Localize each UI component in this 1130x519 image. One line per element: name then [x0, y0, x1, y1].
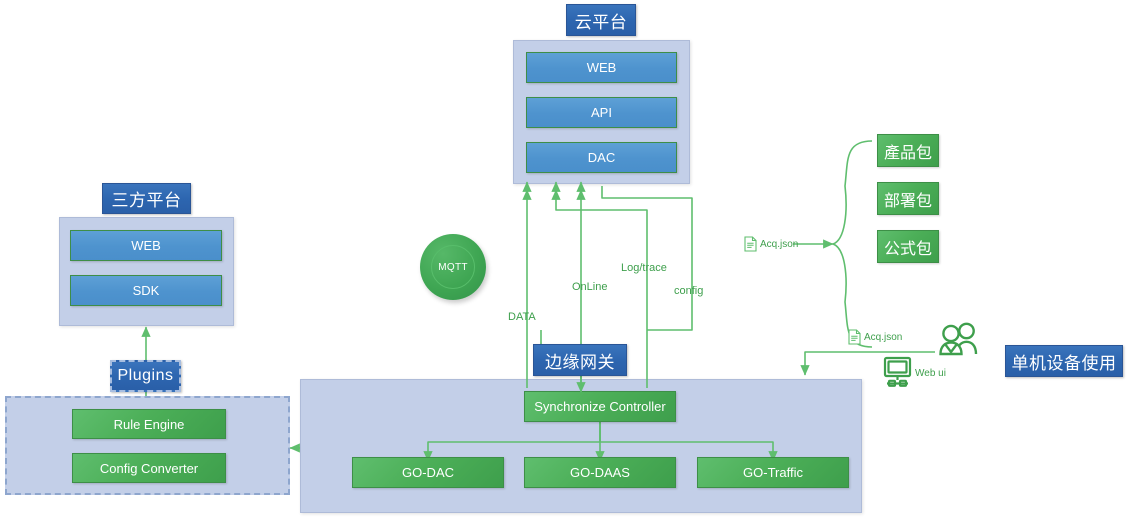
- rule-engine-label: Rule Engine: [114, 417, 185, 432]
- wire-ctrl-to-godac: [428, 422, 600, 461]
- packages-brace: [833, 141, 872, 347]
- config-converter-box[interactable]: Config Converter: [72, 453, 226, 483]
- plugins-badge[interactable]: Plugins: [110, 360, 181, 392]
- go-traffic-box[interactable]: GO-Traffic: [697, 457, 849, 488]
- cloud-web-label: WEB: [587, 60, 617, 75]
- plugins-badge-label: Plugins: [118, 367, 174, 385]
- diagram-canvas: 云平台 WEB API DAC 三方平台 WEB SDK Plugins Rul…: [0, 0, 1130, 519]
- go-dac-label: GO-DAC: [402, 465, 454, 480]
- mqtt-inner-ring: MQTT: [431, 245, 475, 289]
- document-icon: [848, 329, 861, 345]
- third-party-web-box[interactable]: WEB: [70, 230, 222, 261]
- config-converter-label: Config Converter: [100, 461, 198, 476]
- cloud-dac-box[interactable]: DAC: [526, 142, 677, 173]
- wire-ctrl-to-gotraffic: [600, 422, 773, 461]
- web-ui-label: Web ui: [915, 368, 946, 379]
- third-party-sdk-label: SDK: [133, 283, 160, 298]
- deploy-package-box[interactable]: 部署包: [877, 182, 939, 215]
- synchronize-controller-label: Synchronize Controller: [534, 399, 666, 414]
- cloud-api-box[interactable]: API: [526, 97, 677, 128]
- deploy-package-label: 部署包: [884, 187, 932, 211]
- go-traffic-label: GO-Traffic: [743, 465, 803, 480]
- product-package-label: 產品包: [884, 139, 932, 163]
- third-party-sdk-box[interactable]: SDK: [70, 275, 222, 306]
- monitor-icon: [883, 356, 913, 388]
- wire-label-config: config: [674, 285, 703, 297]
- wire-label-config-text: config: [674, 285, 703, 297]
- edge-gateway-badge-label: 边缘网关: [545, 348, 615, 373]
- formula-package-label: 公式包: [884, 235, 932, 259]
- packages-acqjson-group: Acq.json: [744, 236, 798, 252]
- third-party-badge-label: 三方平台: [112, 186, 182, 211]
- cloud-web-box[interactable]: WEB: [526, 52, 677, 83]
- wire-label-online-text: OnLine: [572, 281, 607, 293]
- document-icon: [744, 236, 757, 252]
- formula-package-box[interactable]: 公式包: [877, 230, 939, 263]
- packages-acqjson-label: Acq.json: [760, 239, 798, 250]
- mqtt-node[interactable]: MQTT: [420, 234, 486, 300]
- cloud-platform-badge[interactable]: 云平台: [566, 4, 636, 36]
- cloud-platform-badge-label: 云平台: [575, 8, 628, 33]
- standalone-acqjson-group: Acq.json: [848, 329, 902, 345]
- monitor-icon-wrap: [883, 356, 913, 393]
- standalone-device-badge[interactable]: 单机设备使用: [1005, 345, 1123, 377]
- go-daas-box[interactable]: GO-DAAS: [524, 457, 676, 488]
- third-party-badge[interactable]: 三方平台: [102, 183, 191, 214]
- wire-label-data: DATA: [508, 311, 536, 323]
- wire-label-log-trace: Log/trace: [621, 262, 667, 274]
- rule-engine-box[interactable]: Rule Engine: [72, 409, 226, 439]
- wire-label-data-text: DATA: [508, 311, 536, 323]
- web-ui-label-text: Web ui: [915, 368, 946, 379]
- wire-label-log-trace-text: Log/trace: [621, 262, 667, 274]
- go-dac-box[interactable]: GO-DAC: [352, 457, 504, 488]
- cloud-api-label: API: [591, 105, 612, 120]
- synchronize-controller-box[interactable]: Synchronize Controller: [524, 391, 676, 422]
- users-icon-wrap: [936, 321, 984, 364]
- product-package-box[interactable]: 產品包: [877, 134, 939, 167]
- go-daas-label: GO-DAAS: [570, 465, 630, 480]
- standalone-device-badge-label: 单机设备使用: [1012, 349, 1117, 374]
- edge-gateway-badge[interactable]: 边缘网关: [533, 344, 627, 376]
- cloud-dac-label: DAC: [588, 150, 615, 165]
- wire-label-online: OnLine: [572, 281, 607, 293]
- users-icon: [936, 321, 984, 359]
- third-party-web-label: WEB: [131, 238, 161, 253]
- mqtt-label: MQTT: [438, 262, 468, 273]
- standalone-acqjson-label: Acq.json: [864, 332, 902, 343]
